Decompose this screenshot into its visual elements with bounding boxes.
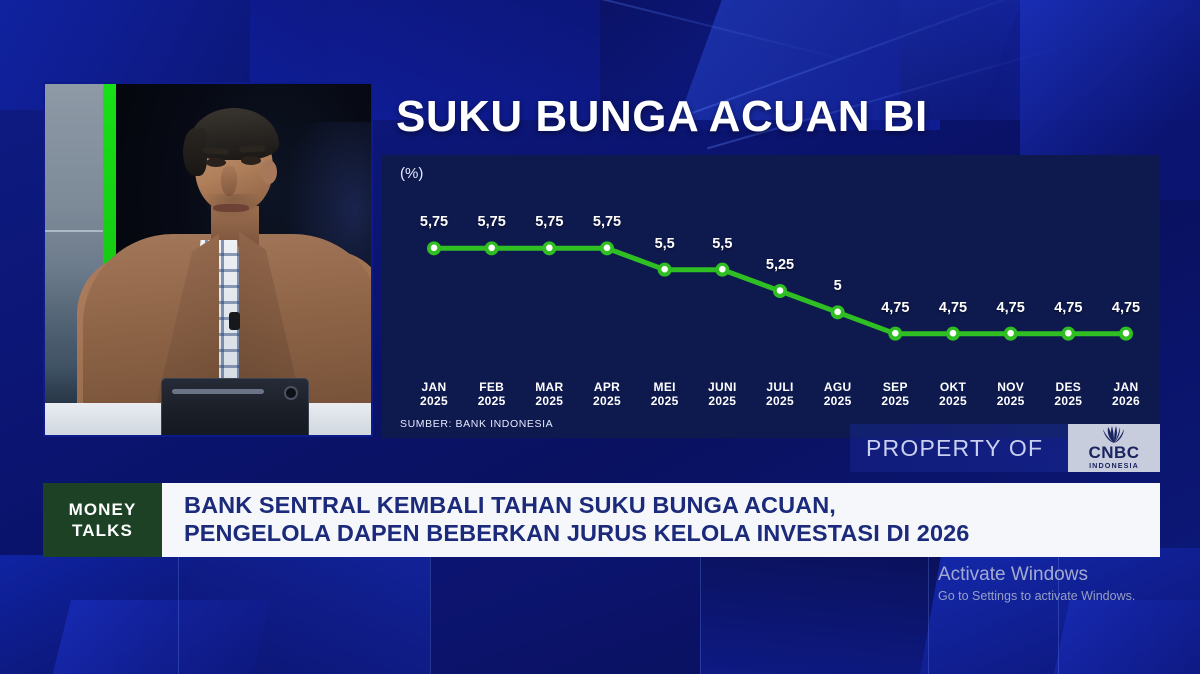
data-point-label: 5: [834, 278, 842, 294]
tablet-device: [161, 378, 309, 437]
headline-line-2: PENGELOLA DAPEN BEBERKAN JURUS KELOLA IN…: [184, 520, 1160, 548]
property-of-label: PROPERTY OF: [850, 435, 1068, 462]
data-point-label: 5,5: [712, 236, 732, 252]
data-point-label: 4,75: [997, 300, 1025, 316]
lower-third-banner: MONEY TALKS BANK SENTRAL KEMBALI TAHAN S…: [43, 483, 1160, 557]
data-point-core: [950, 330, 957, 337]
broadcast-screen: SUKU BUNGA ACUAN BI (%) 5,75JAN20255,75F…: [0, 0, 1200, 674]
cnbc-wordmark: CNBC: [1088, 444, 1139, 461]
x-axis-tick-label: NOV2025: [997, 380, 1025, 408]
activate-windows-title: Activate Windows: [938, 563, 1135, 587]
lapel-microphone-icon: [229, 312, 240, 330]
data-point-label: 5,75: [420, 214, 448, 230]
data-point-core: [1065, 330, 1072, 337]
data-point-core: [719, 266, 726, 273]
x-axis-tick-label: MAR2025: [535, 380, 563, 408]
x-axis-tick-label: AGU2025: [824, 380, 852, 408]
headline-container: BANK SENTRAL KEMBALI TAHAN SUKU BUNGA AC…: [162, 483, 1160, 557]
chart-source-note: SUMBER: BANK INDONESIA: [400, 418, 553, 430]
peacock-icon: [1091, 426, 1137, 443]
x-axis-tick-label: APR2025: [593, 380, 621, 408]
data-point-core: [661, 266, 668, 273]
chart-panel: (%) 5,75JAN20255,75FEB20255,75MAR20255,7…: [382, 155, 1160, 438]
data-point-core: [777, 287, 784, 294]
studio-video-feed: [43, 82, 373, 437]
show-name-line2: TALKS: [72, 520, 133, 541]
line-chart-plot: 5,75JAN20255,75FEB20255,75MAR20255,75APR…: [382, 155, 1160, 438]
tablet-camera-icon: [284, 386, 298, 400]
data-point-core: [1007, 330, 1014, 337]
x-axis-tick-label: JAN2026: [1112, 380, 1140, 408]
data-point-label: 5,75: [478, 214, 506, 230]
data-point-label: 4,75: [939, 300, 967, 316]
data-point-label: 5,25: [766, 257, 794, 273]
activate-windows-subtitle: Go to Settings to activate Windows.: [938, 589, 1135, 603]
x-axis-tick-label: OKT2025: [939, 380, 967, 408]
data-point-label: 5,5: [655, 236, 675, 252]
data-point-label: 5,75: [535, 214, 563, 230]
cnbc-region-label: INDONESIA: [1089, 462, 1139, 469]
data-point-core: [892, 330, 899, 337]
data-point-core: [834, 309, 841, 316]
x-axis-tick-label: JUNI2025: [708, 380, 737, 408]
data-point-core: [431, 245, 438, 252]
property-of-watermark: PROPERTY OF CNBC INDONESIA: [850, 424, 1160, 472]
data-point-label: 4,75: [1112, 300, 1140, 316]
data-point-core: [604, 245, 611, 252]
data-point-label: 4,75: [1054, 300, 1082, 316]
x-axis-tick-label: JULI2025: [766, 380, 794, 408]
x-axis-tick-label: FEB2025: [478, 380, 506, 408]
data-point-core: [1123, 330, 1130, 337]
x-axis-tick-label: SEP2025: [881, 380, 909, 408]
x-axis-tick-label: DES2025: [1054, 380, 1082, 408]
windows-activation-watermark: Activate Windows Go to Settings to activ…: [938, 563, 1135, 603]
data-point-core: [488, 245, 495, 252]
chart-title: SUKU BUNGA ACUAN BI: [396, 92, 928, 142]
data-point-label: 5,75: [593, 214, 621, 230]
data-point-core: [546, 245, 553, 252]
show-name-line1: MONEY: [69, 499, 137, 520]
cnbc-indonesia-logo: CNBC INDONESIA: [1068, 424, 1160, 472]
show-name-badge: MONEY TALKS: [43, 483, 162, 557]
x-axis-tick-label: JAN2025: [420, 380, 448, 408]
headline-line-1: BANK SENTRAL KEMBALI TAHAN SUKU BUNGA AC…: [184, 492, 1160, 520]
data-point-label: 4,75: [881, 300, 909, 316]
x-axis-tick-label: MEI2025: [651, 380, 679, 408]
